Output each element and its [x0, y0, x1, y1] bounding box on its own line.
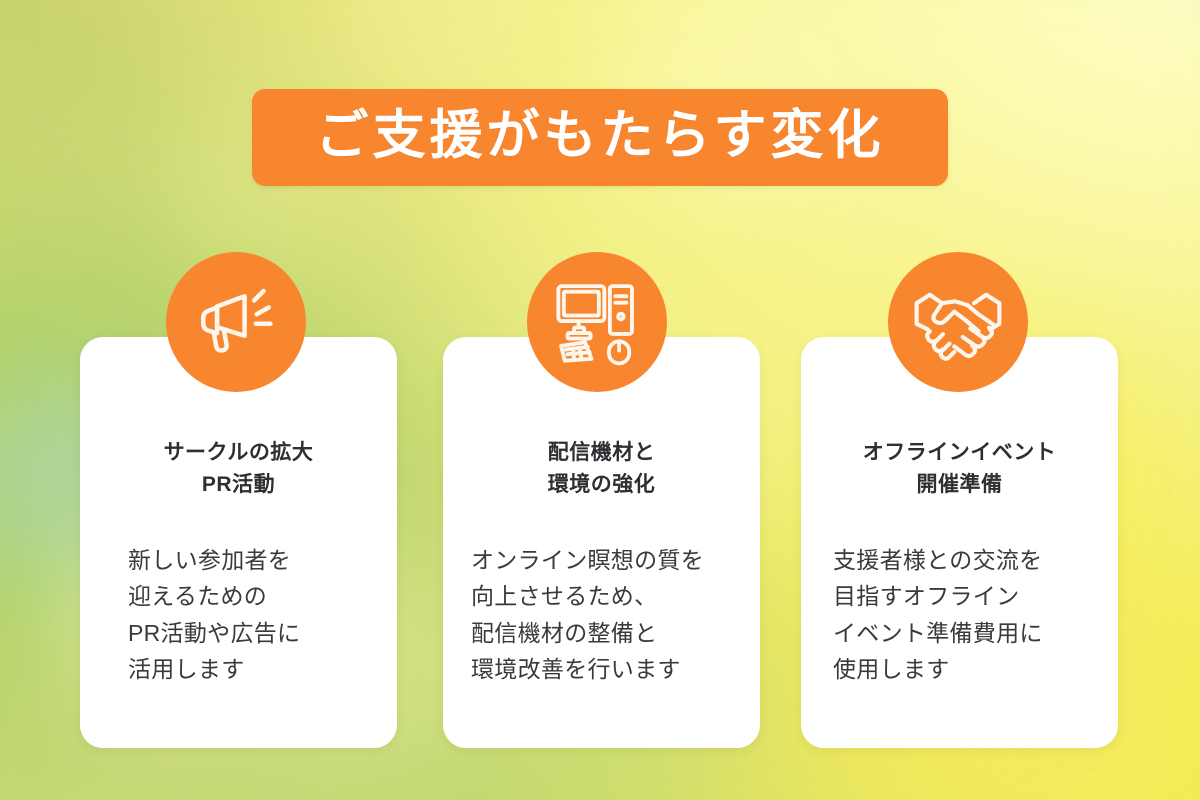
megaphone-icon: [193, 279, 279, 365]
card-body: 支援者様との交流を 目指すオフライン イベント準備費用に 使用します: [801, 542, 1118, 687]
card-body-line2: 向上させるため、: [471, 583, 657, 609]
card-body-line4: 環境改善を行います: [471, 656, 681, 682]
bokeh-blob: [350, 0, 570, 90]
benefit-card: オフラインイベント 開催準備 支援者様との交流を 目指すオフライン イベント準備…: [801, 337, 1118, 748]
card-body-line3: 配信機材の整備と: [471, 620, 657, 646]
card-body-line2: 目指すオフライン: [833, 583, 1019, 609]
card-body-line3: PR活動や広告に: [128, 620, 300, 646]
card-body: オンライン瞑想の質を 向上させるため、 配信機材の整備と 環境改善を行います: [443, 542, 760, 687]
benefit-card: 配信機材と 環境の強化 オンライン瞑想の質を 向上させるため、 配信機材の整備と…: [443, 337, 760, 748]
card-body-line1: 新しい参加者を: [128, 547, 291, 573]
handshake-icon: [911, 275, 1005, 369]
card-icon-badge: [888, 252, 1028, 392]
card-body-line4: 使用します: [833, 656, 950, 682]
poster-root: ご支援がもたらす変化 サークルの拡大 PR活動 新しい参加者を 迎えるための P…: [0, 0, 1200, 800]
card-body: 新しい参加者を 迎えるための PR活動や広告に 活用します: [80, 542, 397, 687]
card-body-line2: 迎えるための: [128, 583, 267, 609]
card-title-line1: オフラインイベント: [863, 441, 1057, 464]
card-icon-badge: [527, 252, 667, 392]
card-icon-badge: [166, 252, 306, 392]
card-title-line1: 配信機材と: [548, 441, 656, 464]
card-title-line2: 環境の強化: [548, 473, 656, 496]
card-title-line2: PR活動: [202, 473, 275, 496]
card-body-line4: 活用します: [128, 656, 245, 682]
card-body-line3: イベント準備費用に: [833, 620, 1043, 646]
card-title-line1: サークルの拡大: [164, 441, 314, 464]
benefit-card: サークルの拡大 PR活動 新しい参加者を 迎えるための PR活動や広告に 活用し…: [80, 337, 397, 748]
card-title: サークルの拡大 PR活動: [80, 437, 397, 501]
desktop-computer-icon: [551, 276, 643, 368]
card-title-line2: 開催準備: [917, 473, 1003, 496]
bokeh-blob: [0, 40, 150, 260]
page-title-pill: ご支援がもたらす変化: [252, 89, 948, 186]
card-body-line1: 支援者様との交流を: [833, 547, 1042, 573]
card-title: オフラインイベント 開催準備: [801, 437, 1118, 501]
card-body-line1: オンライン瞑想の質を: [471, 547, 704, 573]
page-title: ご支援がもたらす変化: [316, 109, 885, 166]
card-title: 配信機材と 環境の強化: [443, 437, 760, 501]
